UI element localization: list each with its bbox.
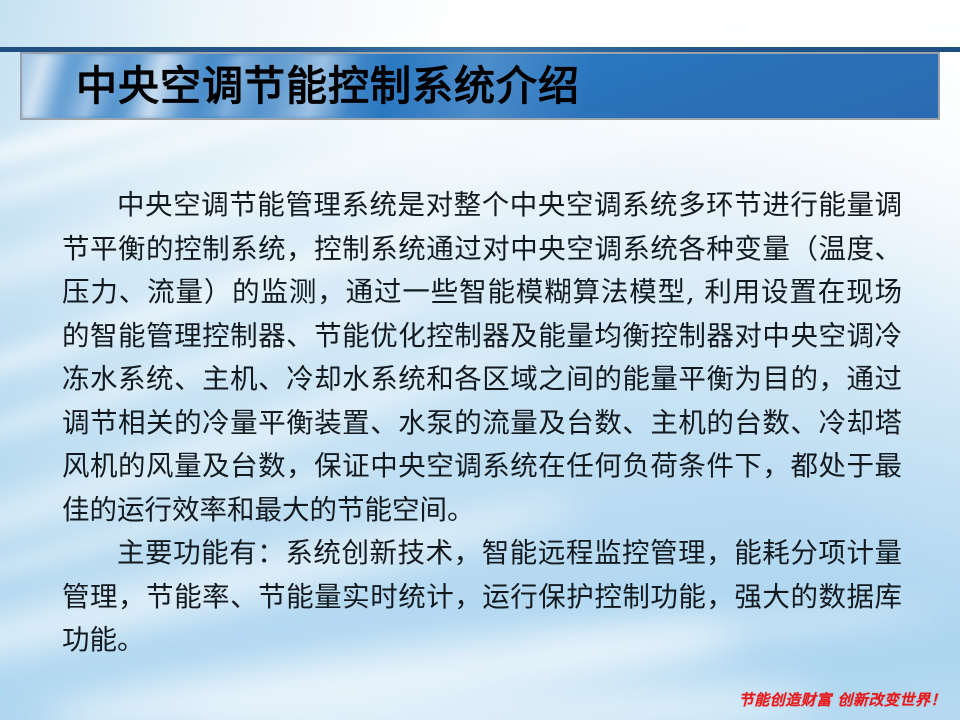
footer-slogan: 节能创造财富 创新改变世界！: [739, 689, 946, 710]
paragraph-main-functions: 主要功能有：系统创新技术，智能远程监控管理，能耗分项计量管理，节能率、节能量实时…: [62, 532, 902, 663]
slide-canvas: 中央空调节能控制系统介绍 中央空调节能管理系统是对整个中央空调系统多环节进行能量…: [0, 0, 960, 720]
title-banner: 中央空调节能控制系统介绍: [20, 52, 940, 120]
page-title: 中央空调节能控制系统介绍: [76, 66, 580, 107]
paragraph-overview: 中央空调节能管理系统是对整个中央空调系统多环节进行能量调节平衡的控制系统，控制系…: [62, 184, 902, 532]
body-content: 中央空调节能管理系统是对整个中央空调系统多环节进行能量调节平衡的控制系统，控制系…: [62, 184, 902, 663]
